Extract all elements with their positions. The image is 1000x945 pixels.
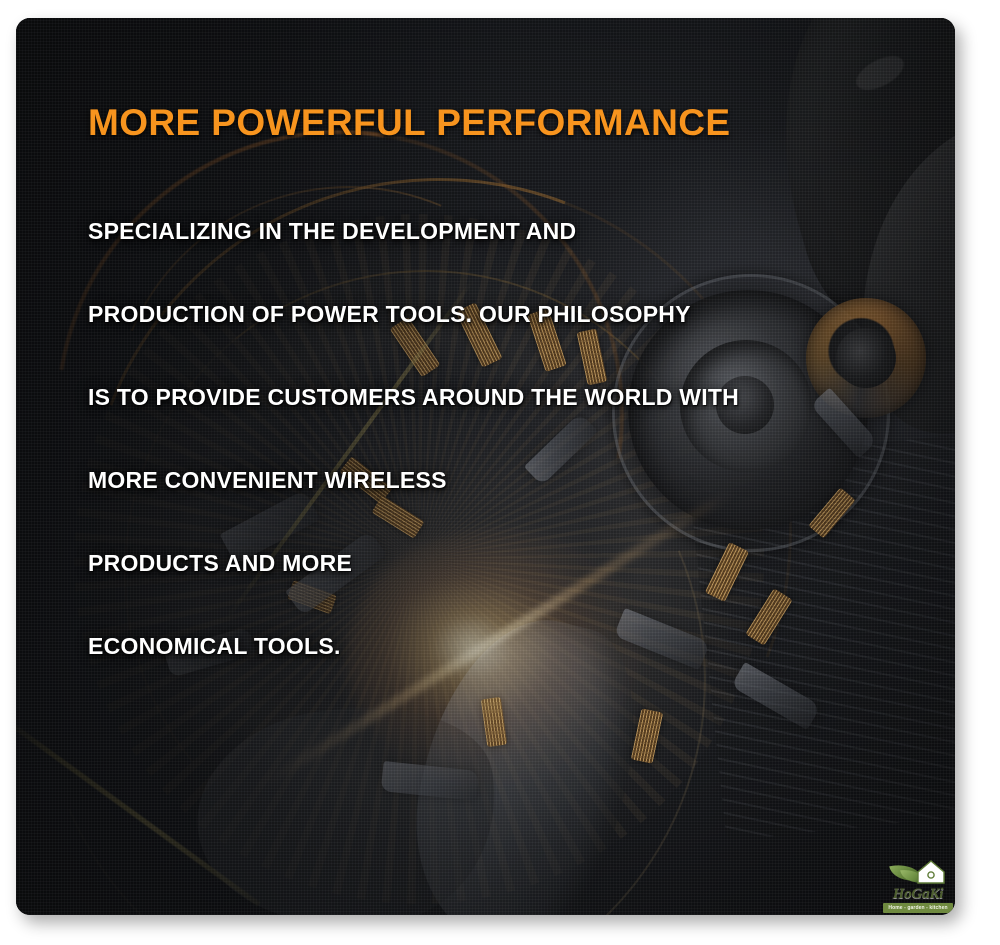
banner-body-line: IS TO PROVIDE CUSTOMERS AROUND THE WORLD… [88,389,915,472]
watermark-mark [887,859,949,886]
banner-copy: MORE POWERFUL PERFORMANCE SPECIALIZING I… [88,104,915,721]
banner-stage: MORE POWERFUL PERFORMANCE SPECIALIZING I… [0,0,1000,945]
banner-body-line: SPECIALIZING IN THE DEVELOPMENT AND [88,223,915,306]
page-title: MORE POWERFUL PERFORMANCE [88,104,915,143]
watermark-tagline: Home - garden - kitchen [883,903,953,913]
house-icon [917,860,945,884]
banner-body-line: PRODUCTS AND MORE [88,555,915,638]
watermark-logo: HoGaKi Home - garden - kitchen [883,859,953,913]
banner-body-line: ECONOMICAL TOOLS. [88,638,915,721]
banner-body-text: SPECIALIZING IN THE DEVELOPMENT ANDPRODU… [88,223,915,721]
promo-banner-panel: MORE POWERFUL PERFORMANCE SPECIALIZING I… [16,18,955,915]
watermark-brand: HoGaKi [883,887,953,902]
banner-body-line: MORE CONVENIENT WIRELESS [88,472,915,555]
banner-body-line: PRODUCTION OF POWER TOOLS. OUR PHILOSOPH… [88,306,915,389]
